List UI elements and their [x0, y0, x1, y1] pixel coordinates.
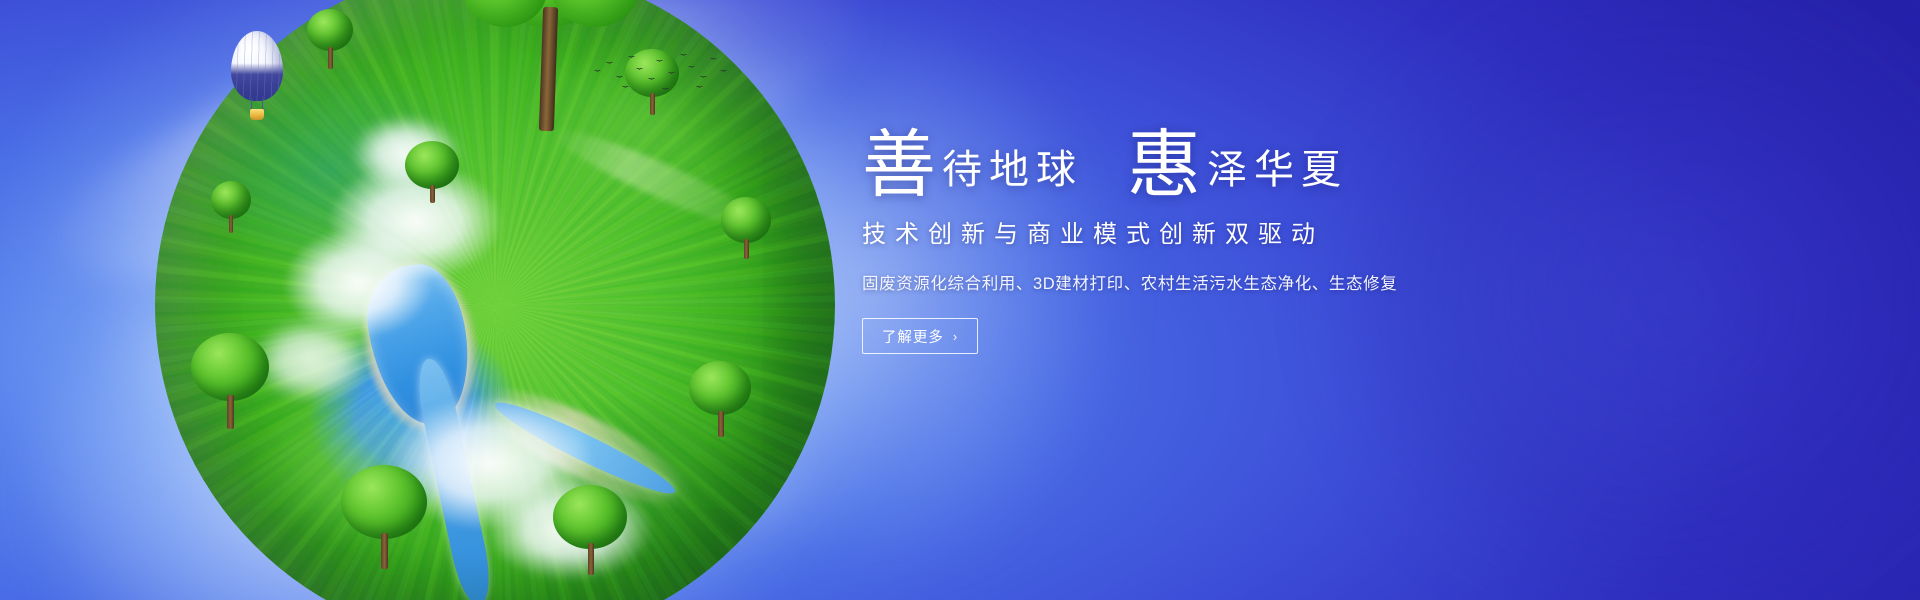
hero-copy: 善 待地球 惠 泽华夏 技术创新与商业模式创新双驱动 固废资源化综合利用、3D建… [862, 128, 1562, 354]
headline-group-1: 善 待地球 [862, 128, 1083, 196]
rim-tree-4 [689, 361, 751, 437]
hot-air-balloon-icon [231, 31, 283, 123]
rim-tree-9 [405, 141, 459, 203]
headline-subtitle: 技术创新与商业模式创新双驱动 [862, 214, 1562, 249]
headline-description: 固废资源化综合利用、3D建材打印、农村生活污水生态净化、生态修复 [862, 270, 1562, 294]
rim-tree-7 [191, 333, 269, 429]
learn-more-button[interactable]: 了解更多 › [862, 318, 978, 354]
rim-tree-3 [721, 197, 771, 259]
rim-tree-6 [341, 465, 427, 569]
rim-tree-5 [553, 485, 627, 575]
headline: 善 待地球 惠 泽华夏 [862, 128, 1562, 196]
hero-banner: 善 待地球 惠 泽华夏 技术创新与商业模式创新双驱动 固废资源化综合利用、3D建… [0, 0, 1920, 600]
rim-tree-8 [211, 181, 251, 233]
learn-more-label: 了解更多 [882, 326, 944, 347]
headline-lead-2: 惠 [1127, 132, 1201, 200]
headline-lead-1: 善 [862, 132, 936, 200]
headline-rest-2: 泽华夏 [1207, 150, 1348, 196]
headline-group-2: 惠 泽华夏 [1127, 128, 1348, 196]
chevron-right-icon: › [953, 329, 958, 344]
bird-flock [592, 48, 732, 94]
headline-rest-1: 待地球 [942, 150, 1083, 196]
rim-tree-1 [307, 9, 353, 69]
